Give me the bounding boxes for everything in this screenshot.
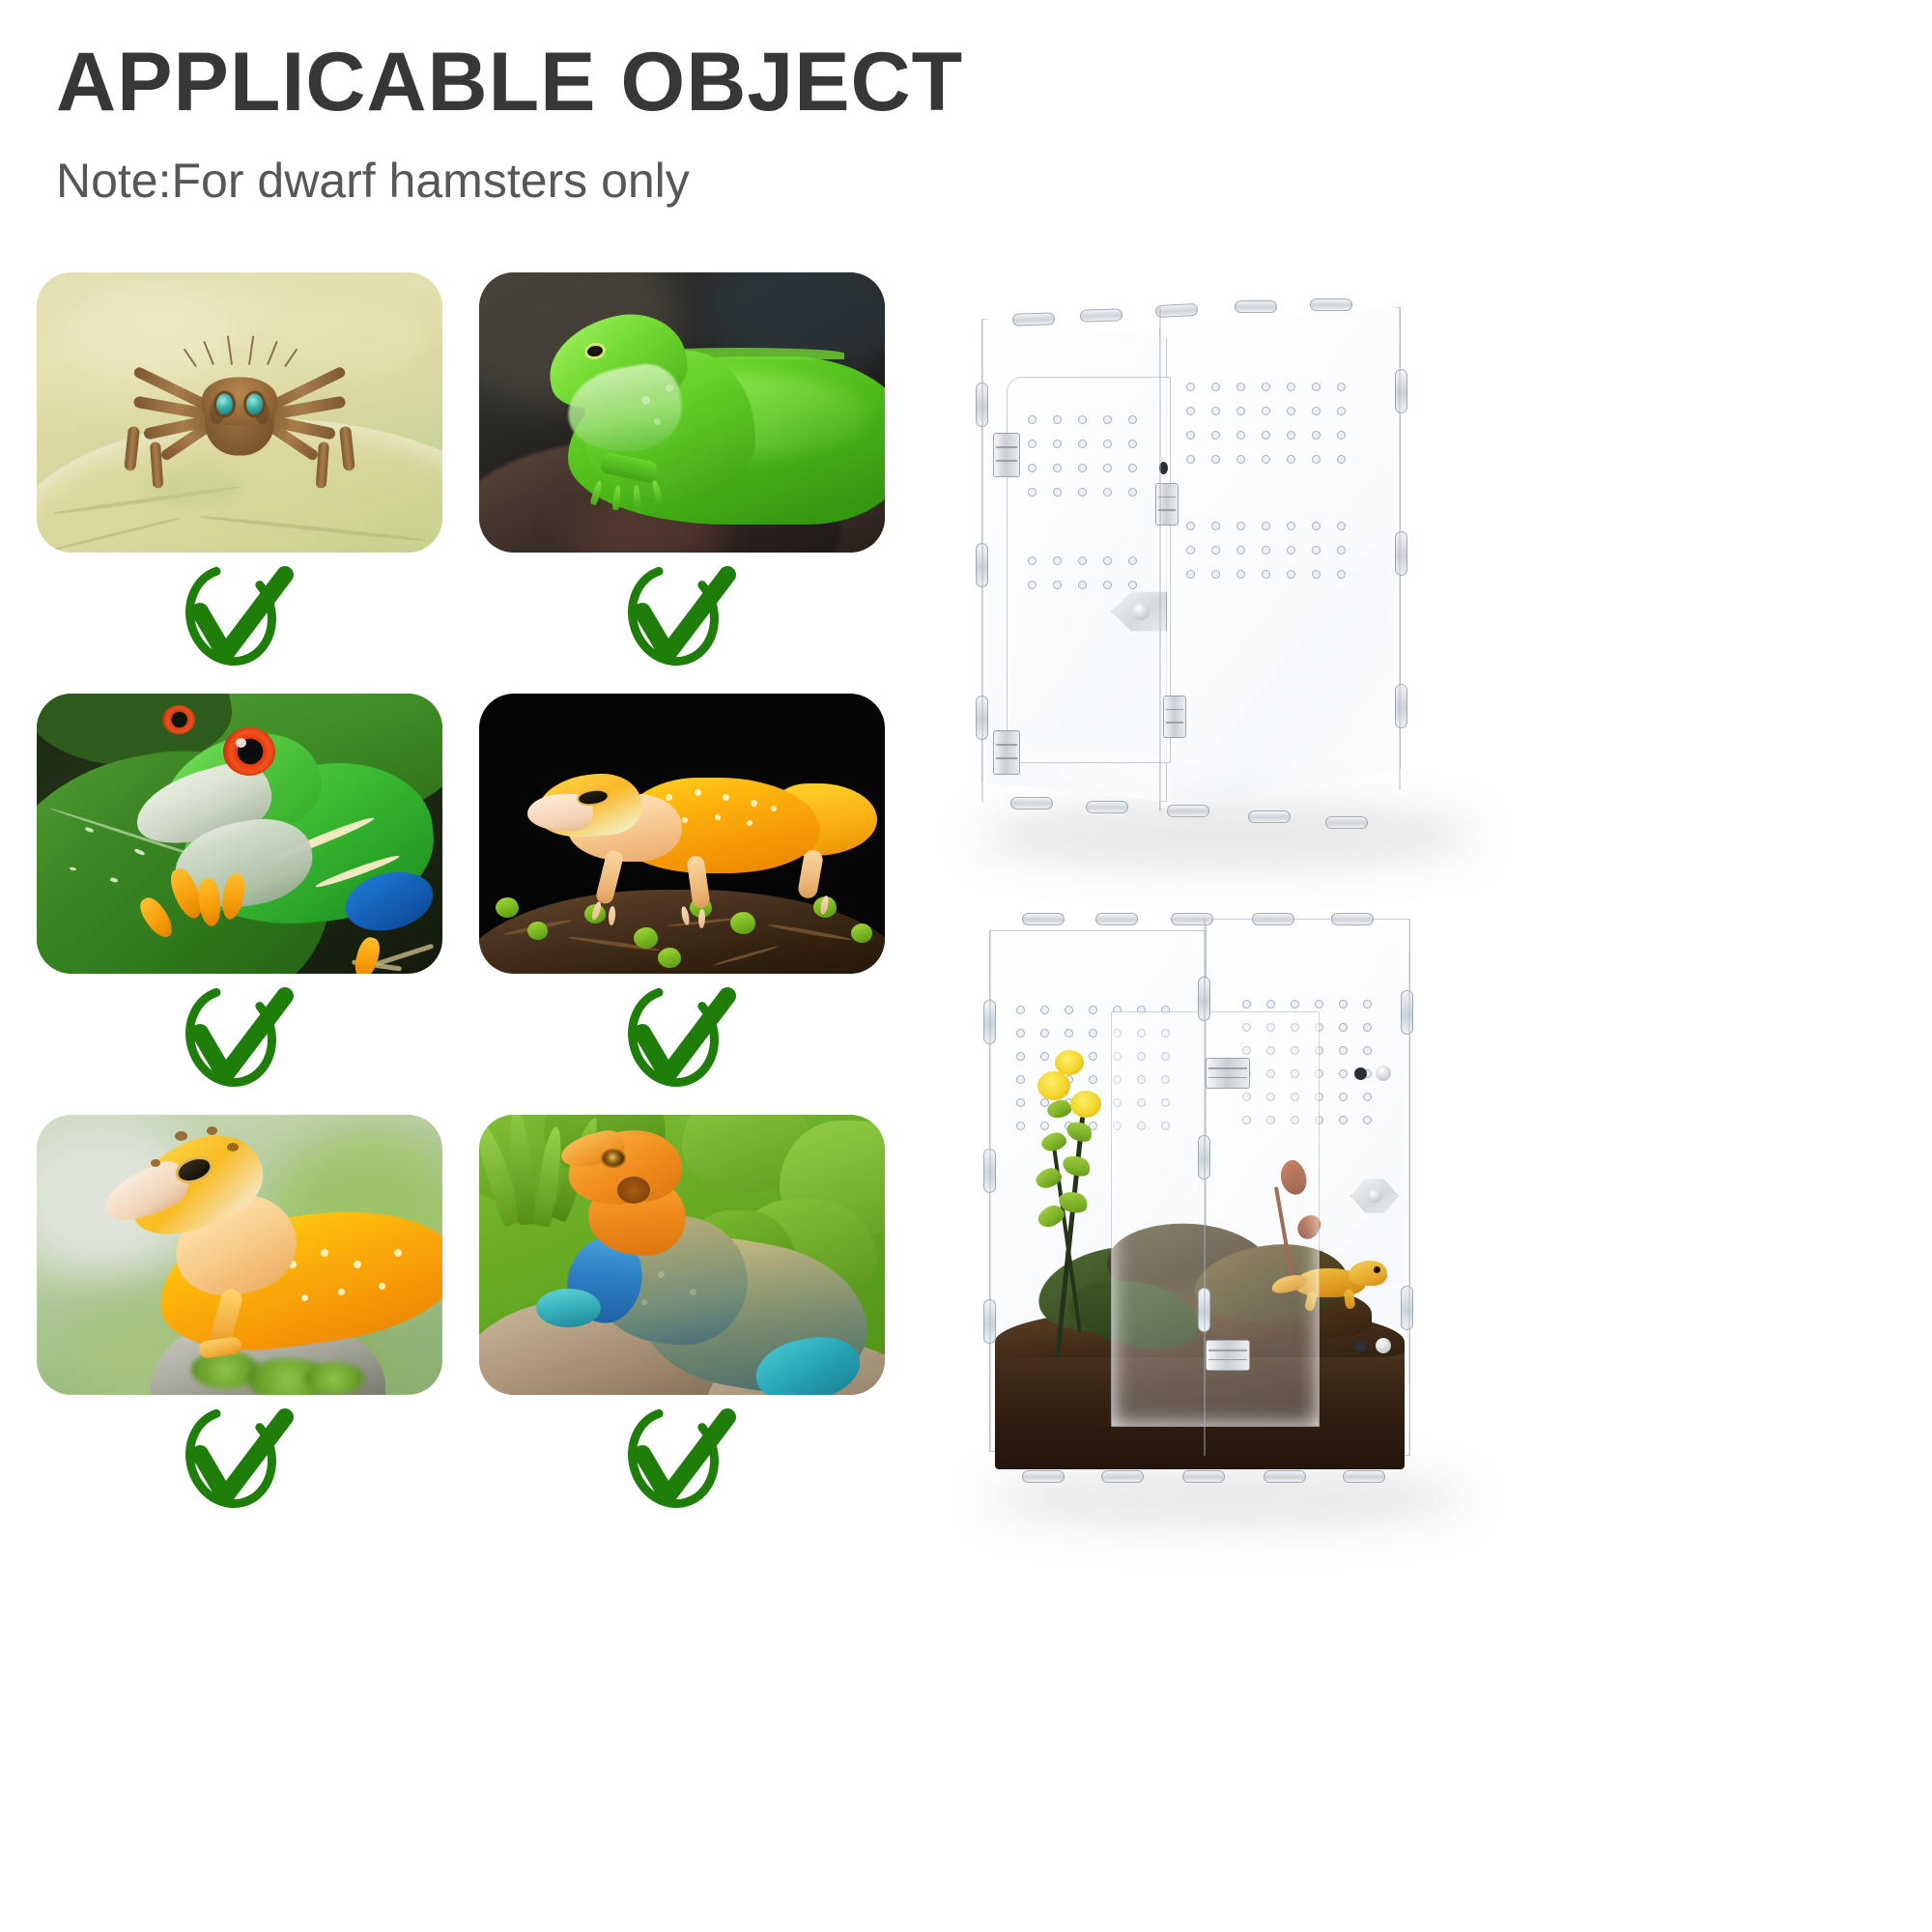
clip-fastener <box>1252 913 1294 925</box>
product-terrarium-empty <box>966 290 1507 850</box>
screw-pin <box>1354 1340 1367 1352</box>
photo-gecko-moss <box>37 1115 442 1395</box>
flower <box>1055 1050 1084 1075</box>
photo-green-iguana <box>479 272 885 553</box>
clip-fastener <box>1012 312 1055 327</box>
grid-row <box>37 272 906 678</box>
clip-fastener <box>1095 913 1138 925</box>
clip-fastener <box>1022 1470 1065 1483</box>
approved-check-spider <box>37 553 442 678</box>
vent-grid-door <box>1028 415 1153 605</box>
screw-pin <box>1354 1067 1367 1080</box>
door-hinge <box>993 433 1020 477</box>
photo-agama <box>479 1115 885 1395</box>
clip-fastener <box>1171 913 1213 925</box>
clip-fastener <box>1086 801 1128 813</box>
grid-row <box>37 1115 906 1520</box>
flower <box>1037 1071 1070 1100</box>
approved-check-gecko-dark <box>479 974 885 1099</box>
photo-spider <box>37 272 442 553</box>
clip-fastener <box>1182 1470 1225 1483</box>
clip-fastener <box>1325 816 1368 829</box>
clip-fastener <box>1331 913 1374 925</box>
grid-row <box>37 694 906 1099</box>
door-hinge <box>1206 1340 1250 1371</box>
clip-fastener <box>1395 684 1407 728</box>
clip-fastener <box>1167 805 1209 817</box>
photo-tree-frog <box>37 694 442 974</box>
grid-cell-gecko-dark <box>479 694 885 1099</box>
clip-fastener <box>1401 990 1413 1035</box>
clip-fastener <box>1010 797 1053 810</box>
door-hinge <box>1206 1058 1250 1089</box>
clip-fastener <box>1310 298 1352 311</box>
grid-cell-agama <box>479 1115 885 1520</box>
grid-cell-tree-frog <box>37 694 442 1099</box>
door-hinge <box>993 730 1020 775</box>
latch-knob <box>1368 1189 1381 1203</box>
clip-fastener <box>1343 1470 1385 1483</box>
grid-cell-gecko-moss <box>37 1115 442 1520</box>
screw-head <box>1376 1065 1391 1081</box>
clip-fastener <box>1101 1470 1144 1483</box>
approved-check-gecko-moss <box>37 1395 442 1520</box>
clip-fastener <box>1080 308 1122 323</box>
clip-fastener <box>1155 303 1199 318</box>
flower <box>1070 1091 1101 1118</box>
approved-check-green-iguana <box>479 553 885 678</box>
applicable-animals-grid <box>37 272 906 1536</box>
page-title: APPLICABLE OBJECT <box>56 39 1312 126</box>
screw-head <box>1376 1338 1391 1353</box>
photo-gecko-dark <box>479 694 885 974</box>
clip-fastener <box>1401 1286 1413 1330</box>
clip-fastener <box>1235 300 1277 313</box>
grid-cell-green-iguana <box>479 272 885 678</box>
panel-hinge <box>1163 696 1186 738</box>
approved-check-agama <box>479 1395 885 1520</box>
approved-check-tree-frog <box>37 974 442 1099</box>
clip-fastener <box>1248 810 1291 823</box>
header: APPLICABLE OBJECT Note:For dwarf hamster… <box>56 39 1312 208</box>
clip-fastener <box>1264 1470 1306 1483</box>
grid-cell-spider <box>37 272 442 678</box>
vent-grid-right <box>1186 383 1362 594</box>
clip-fastener <box>1395 369 1407 413</box>
page-subtitle: Note:For dwarf hamsters only <box>56 155 1312 208</box>
clip-fastener <box>1022 913 1065 925</box>
latch-knob <box>1132 603 1150 620</box>
product-terrarium-planted <box>966 903 1507 1502</box>
clip-fastener <box>1395 531 1407 576</box>
